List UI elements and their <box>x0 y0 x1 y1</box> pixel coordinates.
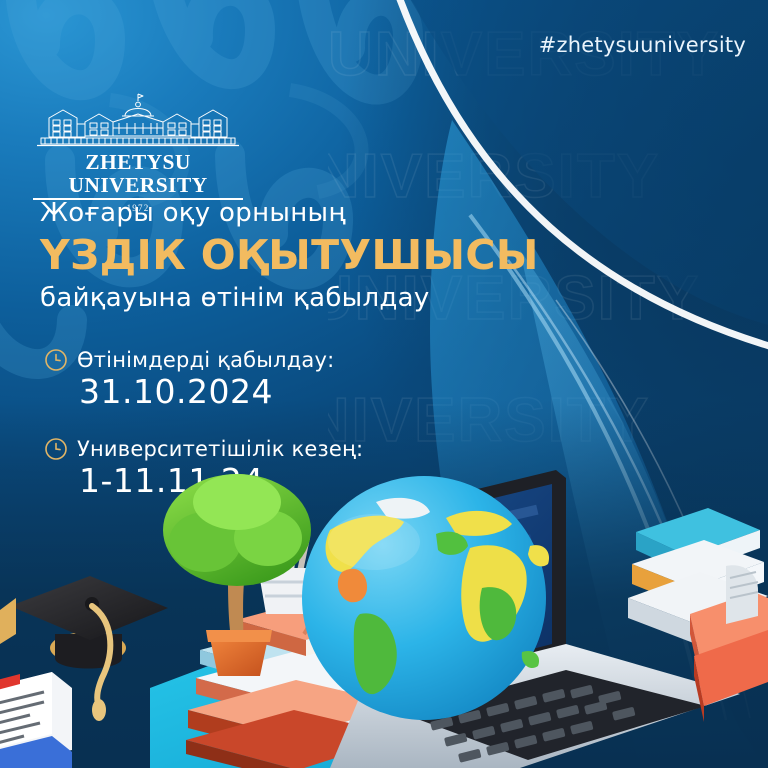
headline-block: Жоғары оқу орнының ҮЗДІК ОҚЫТУШЫСЫ байқа… <box>40 198 560 313</box>
date-entry: Өтінімдерді қабылдау: 31.10.2024 <box>44 348 524 411</box>
headline-line-2: ҮЗДІК ОҚЫТУШЫСЫ <box>40 233 560 279</box>
headline-line-3: байқауына өтінім қабылдау <box>40 283 560 314</box>
date-value: 31.10.2024 <box>79 373 524 411</box>
university-building-icon <box>33 92 243 150</box>
open-book <box>0 672 72 768</box>
poster-canvas: UNIVERSITY UNIVERSITY UNIVERSITY UNIVERS… <box>0 0 768 768</box>
date-label: Өтінімдерді қабылдау: <box>77 348 334 372</box>
university-logo: ZHETYSU UNIVERSITY 1972 <box>33 92 243 213</box>
headline-line-1: Жоғары оқу орнының <box>40 198 560 229</box>
clock-icon <box>44 348 68 372</box>
desk-scene-illustration <box>0 438 768 768</box>
hashtag-label: #zhetysuuniversity <box>539 33 746 57</box>
logo-name-text: ZHETYSU UNIVERSITY <box>33 151 243 196</box>
